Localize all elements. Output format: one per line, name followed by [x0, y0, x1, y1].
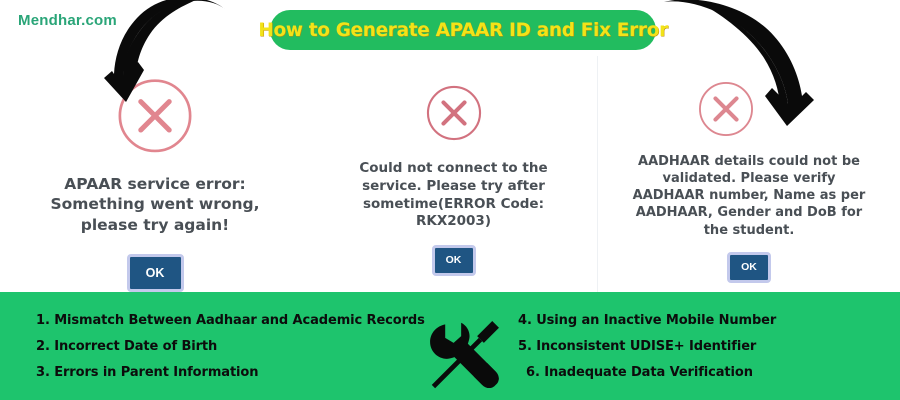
- error-circle-x-icon: [112, 74, 198, 158]
- reasons-banner: 1. Mismatch Between Aadhaar and Academic…: [0, 292, 900, 400]
- list-item: 3. Errors in Parent Information: [36, 359, 416, 385]
- reasons-list-left: 1. Mismatch Between Aadhaar and Academic…: [36, 292, 416, 400]
- error-circle-x-icon: [695, 78, 757, 140]
- site-logo: Mendhar.com: [18, 12, 117, 29]
- ok-button[interactable]: OK: [727, 252, 771, 283]
- error-message: Could not connect to the service. Please…: [346, 160, 562, 231]
- error-dialog-row: APAAR service error: Something went wron…: [0, 56, 900, 292]
- list-item: 2. Incorrect Date of Birth: [36, 333, 416, 359]
- page-title: How to Generate APAAR ID and Fix Error: [258, 19, 668, 41]
- list-item: 4. Using an Inactive Mobile Number: [512, 307, 892, 333]
- reasons-list-right: 4. Using an Inactive Mobile Number 5. In…: [512, 292, 892, 400]
- error-dialog-3: AADHAAR details could not be validated. …: [597, 56, 900, 292]
- error-message: AADHAAR details could not be validated. …: [630, 153, 868, 239]
- list-item: 1. Mismatch Between Aadhaar and Academic…: [36, 307, 416, 333]
- error-circle-x-icon: [423, 82, 485, 144]
- error-dialog-2: Could not connect to the service. Please…: [310, 56, 597, 292]
- ok-button[interactable]: OK: [432, 245, 476, 276]
- infographic-page: Mendhar.com How to Generate APAAR ID and…: [0, 0, 900, 400]
- error-message: APAAR service error: Something went wron…: [21, 174, 289, 235]
- ok-button[interactable]: OK: [127, 254, 184, 292]
- list-item: 5. Inconsistent UDISE+ Identifier: [512, 333, 892, 359]
- list-item: 6. Inadequate Data Verification: [512, 359, 892, 385]
- title-banner: How to Generate APAAR ID and Fix Error: [270, 10, 656, 50]
- error-dialog-1: APAAR service error: Something went wron…: [0, 56, 310, 292]
